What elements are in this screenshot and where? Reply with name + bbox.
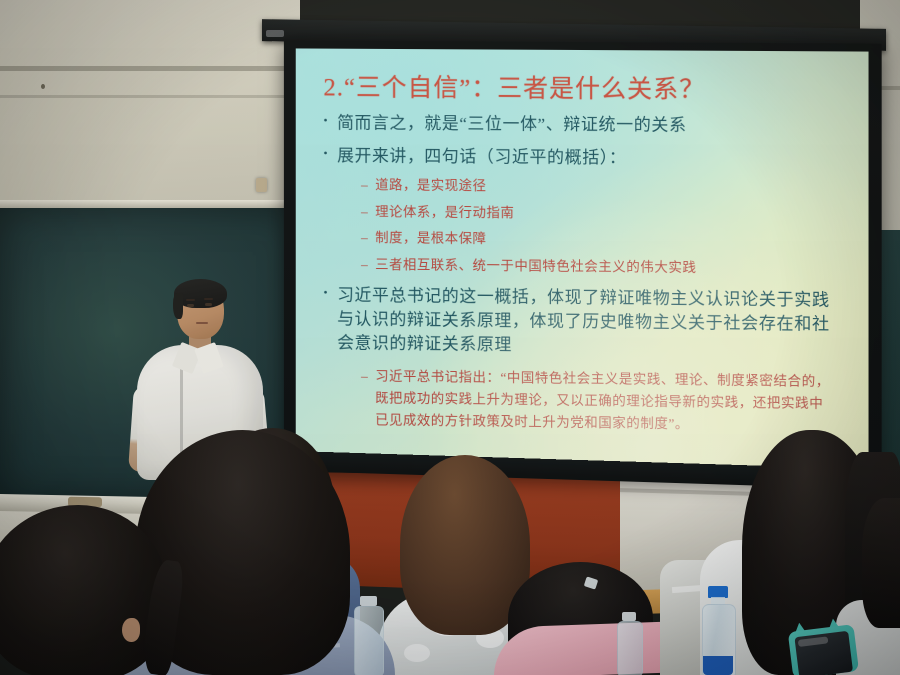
lecturer-eye-right — [205, 303, 212, 306]
subbullet-text: 理论体系，是行动指南 — [375, 202, 514, 223]
projection-screen-frame: 2.“三个自信”：三者是什么关系？ • 简而言之，就是“三位一体”、辩证统一的关… — [284, 40, 882, 480]
subbullet-marker: – — [361, 365, 368, 387]
presentation-slide: 2.“三个自信”：三者是什么关系？ • 简而言之，就是“三位一体”、辩证统一的关… — [296, 48, 869, 471]
lecturer-eye-left — [187, 304, 194, 307]
bottle-label — [703, 656, 733, 675]
wall-trim-line-lower — [0, 95, 300, 98]
subbullet-text: 三者相互联系、统一于中国特色社会主义的伟大实践 — [375, 255, 696, 278]
slide-title: 2.“三个自信”：三者是什么关系？ — [323, 74, 844, 105]
subbullet-marker: – — [361, 175, 368, 195]
slide-subbullet: – 制度，是根本保障 — [361, 228, 844, 252]
subbullet-marker: – — [361, 228, 368, 248]
slide-bullet: • 简而言之，就是“三位一体”、辩证统一的关系 — [323, 111, 844, 139]
subbullet-marker: – — [361, 202, 368, 222]
lecturer-eyebrow-right — [204, 298, 213, 300]
subbullet-marker: – — [361, 255, 368, 275]
bullet-text: 展开来讲，四句话（习近平的概括）： — [337, 144, 844, 172]
subbullet-text: 习近平总书记指出：“中国特色社会主义是实践、理论、制度紧密结合的，既把成功的实践… — [375, 365, 830, 436]
bottle-cap — [622, 612, 636, 621]
water-bottle-clear — [353, 596, 383, 675]
bullet-marker: • — [323, 144, 328, 163]
wall-trim-line — [0, 66, 300, 71]
lecturer-eyebrow-left — [186, 299, 195, 301]
projection-screen-surface: 2.“三个自信”：三者是什么关系？ • 简而言之，就是“三位一体”、辩证统一的关… — [296, 48, 869, 471]
smartphone-cat-ear-case[interactable] — [787, 618, 859, 675]
classroom-photo: 2.“三个自信”：三者是什么关系？ • 简而言之，就是“三位一体”、辩证统一的关… — [0, 0, 900, 675]
student-far-right-hair — [862, 498, 900, 628]
bullet-text: 习近平总书记的这一概括，体现了辩证唯物主义认识论关于实践与认识的辩证关系原理，体… — [337, 283, 844, 361]
bottle-cap — [360, 596, 377, 606]
subbullet-text: 道路，是实现途径 — [375, 176, 486, 196]
water-bottle-blue-cap — [700, 586, 736, 675]
lecturer-hair-side — [173, 293, 183, 319]
upper-wall — [0, 0, 300, 210]
bullet-marker: • — [323, 283, 328, 302]
top-pattern — [404, 644, 430, 662]
slide-subbullet: – 三者相互联系、统一于中国特色社会主义的伟大实践 — [361, 255, 844, 279]
wall-nail — [41, 84, 45, 89]
slide-bullet: • 习近平总书记的这一概括，体现了辩证唯物主义认识论关于实践与认识的辩证关系原理… — [323, 283, 844, 361]
slide-subbullet: – 道路，是实现途径 — [361, 175, 844, 199]
slide-subbullet: – 理论体系，是行动指南 — [361, 202, 844, 226]
slide-bullet: • 展开来讲，四句话（习近平的概括）： — [323, 144, 844, 172]
lecturer-mouth — [196, 322, 208, 324]
housing-end-cap — [266, 30, 284, 37]
bullet-text: 简而言之，就是“三位一体”、辩证统一的关系 — [337, 111, 844, 139]
bottle-body — [617, 621, 643, 675]
subbullet-text: 制度，是根本保障 — [375, 229, 486, 250]
wall-socket — [256, 178, 267, 192]
slide-subbullet-quote: – 习近平总书记指出：“中国特色社会主义是实践、理论、制度紧密结合的，既把成功的… — [361, 365, 844, 437]
student-left-hair — [0, 505, 167, 675]
bottle-body — [354, 606, 384, 675]
bullet-marker: • — [323, 111, 328, 130]
student-left-ear — [122, 618, 140, 642]
water-bottle-small — [616, 612, 642, 675]
